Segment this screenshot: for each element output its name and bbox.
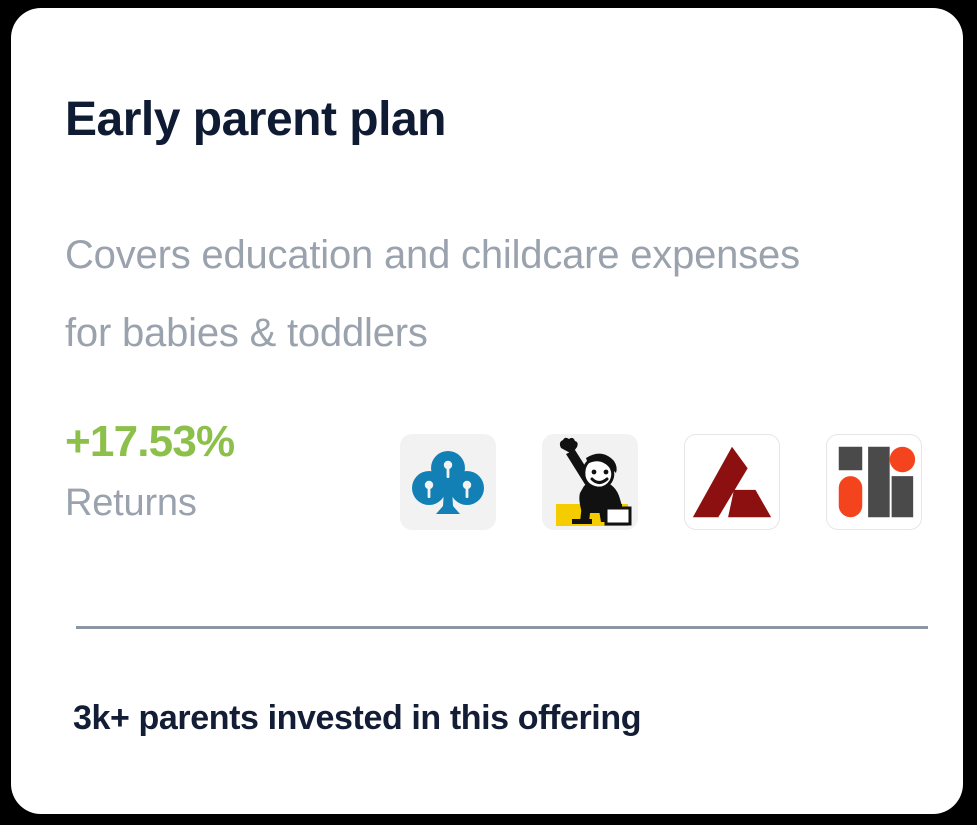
page-background: Early parent plan Covers education and c… xyxy=(0,0,977,825)
returns-block: +17.53% Returns xyxy=(65,420,365,522)
returns-value: +17.53% xyxy=(65,420,365,464)
axis-mutual-fund-logo[interactable] xyxy=(684,434,780,530)
sbi-mutual-fund-logo[interactable] xyxy=(400,434,496,530)
investor-count-note: 3k+ parents invested in this offering xyxy=(73,700,641,737)
early-parent-plan-card[interactable]: Early parent plan Covers education and c… xyxy=(11,8,963,814)
waving-man-mascot-icon xyxy=(542,434,638,530)
letter-a-arrow-icon xyxy=(685,435,779,529)
card-content: Early parent plan Covers education and c… xyxy=(11,8,963,814)
page-title: Early parent plan xyxy=(65,94,446,147)
section-divider xyxy=(76,626,928,629)
icici-prudential-logo[interactable] xyxy=(826,434,922,530)
blocks-and-dot-icon xyxy=(827,435,921,529)
clover-tree-icon xyxy=(400,434,496,530)
nippon-india-mutual-fund-logo[interactable] xyxy=(542,434,638,530)
fund-logo-row xyxy=(400,434,922,530)
returns-label: Returns xyxy=(65,484,365,522)
plan-description: Covers education and childcare expenses … xyxy=(65,216,805,372)
stats-row: +17.53% Returns xyxy=(65,420,923,550)
